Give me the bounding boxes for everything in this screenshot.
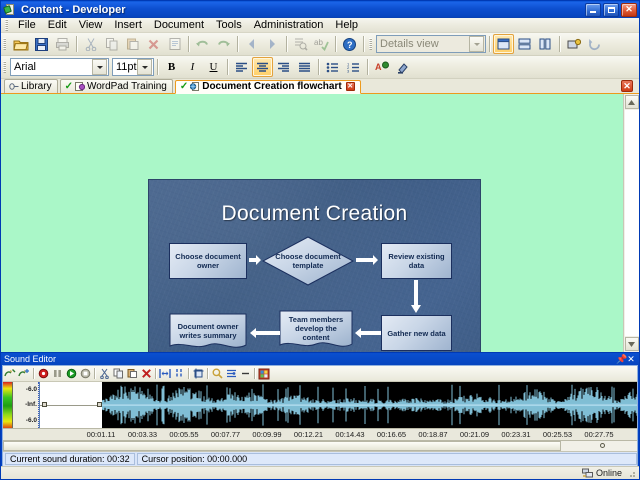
stop-icon xyxy=(78,367,92,381)
close-icon[interactable]: ✕ xyxy=(626,354,636,364)
sound-editor-title: Sound Editor xyxy=(4,354,616,364)
pause-icon xyxy=(50,367,64,381)
spellcheck-icon: ab xyxy=(311,34,332,54)
time-ruler[interactable]: 00:01.1100:03.3300:05.5500:07.7700:09.99… xyxy=(3,428,637,441)
resize-grip-icon[interactable] xyxy=(626,468,636,478)
slide-title: Document Creation xyxy=(149,202,480,226)
insert-marker-icon[interactable] xyxy=(158,367,172,381)
underline-button[interactable]: U xyxy=(203,57,224,77)
connector-n2-n3 xyxy=(356,254,379,266)
save-icon[interactable] xyxy=(31,34,52,54)
flow-node-label: Choose document template xyxy=(262,236,354,286)
scrollbar-thumb[interactable] xyxy=(3,441,561,451)
scroll-up-button[interactable] xyxy=(625,95,639,109)
italic-label: I xyxy=(191,61,195,73)
toolbar-separator xyxy=(227,59,228,75)
play-icon[interactable] xyxy=(64,367,78,381)
ruler-tick: 00:03.33 xyxy=(128,430,157,440)
document-area: Document Creation Choose document owner xyxy=(1,94,639,352)
waveform-display[interactable] xyxy=(39,382,637,428)
toolbar-separator xyxy=(367,59,368,75)
font-family-value: Arial xyxy=(14,61,36,73)
tab-close-icon[interactable]: ✕ xyxy=(346,82,355,91)
toolbar-separator xyxy=(94,368,95,379)
flow-node-label: Gather new data xyxy=(387,329,445,338)
library-icon xyxy=(9,82,19,91)
flow-node-gather-new-data[interactable]: Gather new data xyxy=(381,315,452,351)
chevron-down-icon[interactable] xyxy=(469,36,484,52)
menu-item-view[interactable]: View xyxy=(73,18,109,33)
toolbar-separator xyxy=(254,368,255,379)
toolbar-separator xyxy=(318,59,319,75)
online-label: Online xyxy=(596,468,622,478)
toolbar-grip-view[interactable] xyxy=(369,38,374,50)
menu-item-administration[interactable]: Administration xyxy=(248,18,330,33)
online-status: Online xyxy=(582,468,622,478)
minimize-button[interactable] xyxy=(585,3,601,17)
flow-node-choose-document-template[interactable]: Choose document template xyxy=(262,236,354,286)
tab-library-label: Library xyxy=(21,81,52,93)
close-document-button[interactable]: ✕ xyxy=(621,80,633,92)
flow-node-label: Review existing data xyxy=(385,252,448,270)
paste-icon xyxy=(125,367,139,381)
bullet-list-icon[interactable] xyxy=(322,57,343,77)
copy-icon xyxy=(111,367,125,381)
level-icon[interactable] xyxy=(224,367,238,381)
vertical-split-icon[interactable] xyxy=(535,34,556,54)
view-select-value: Details view xyxy=(380,38,439,50)
forward-icon xyxy=(262,34,283,54)
sound-editor-panel: Sound Editor 📌 ✕ xyxy=(1,352,639,466)
window-controls: ✕ xyxy=(585,3,637,17)
ruler-tick: 00:18.87 xyxy=(418,430,447,440)
selection-handle-left[interactable] xyxy=(42,402,47,407)
tab-document-creation-flowchart[interactable]: ✓ Document Creation flowchart ✕ xyxy=(175,80,361,94)
flow-node-choose-document-owner[interactable]: Choose document owner xyxy=(169,243,247,279)
font-size-select[interactable]: 11pt xyxy=(112,58,154,76)
sound-duration-label: Current sound duration: 00:32 xyxy=(5,453,135,465)
menu-bar: File Edit View Insert Document Tools Adm… xyxy=(1,18,639,33)
underline-label: U xyxy=(210,61,218,73)
ruler-tick: 00:01.11 xyxy=(87,430,116,440)
toolbar-separator xyxy=(157,59,158,75)
minus-icon[interactable] xyxy=(238,367,252,381)
globe-doc-icon xyxy=(190,82,200,91)
zoom-icon[interactable] xyxy=(210,367,224,381)
cursor-position-label: Cursor position: 00:00.000 xyxy=(137,453,637,465)
crop-icon[interactable] xyxy=(191,367,205,381)
align-right-icon[interactable] xyxy=(273,57,294,77)
redo-icon xyxy=(213,34,234,54)
numbered-list-icon[interactable]: 1 2 3 xyxy=(343,57,364,77)
format-toolbar: Arial 11pt B I U xyxy=(1,56,639,79)
toolbar-separator xyxy=(76,36,77,52)
chevron-down-icon[interactable] xyxy=(137,59,152,75)
check-icon: ✓ xyxy=(65,82,73,92)
slide-flowchart[interactable]: Document Creation Choose document owner xyxy=(148,179,481,352)
tab-wordpad-training[interactable]: ✓ WordPad Training xyxy=(60,79,173,93)
tab-wordpad-training-label: WordPad Training xyxy=(87,81,167,93)
print-icon xyxy=(52,34,73,54)
horizontal-split-icon[interactable] xyxy=(514,34,535,54)
properties-icon[interactable] xyxy=(257,367,271,381)
menu-item-insert[interactable]: Insert xyxy=(108,18,148,33)
connector-n5-n6 xyxy=(249,327,280,339)
ruler-tick: 00:16.65 xyxy=(377,430,406,440)
ruler-tick: 00:07.77 xyxy=(211,430,240,440)
ruler-tick: 00:12.21 xyxy=(294,430,323,440)
ruler-tick: 00:21.09 xyxy=(460,430,489,440)
sound-editor-statusbar: Current sound duration: 00:32 Cursor pos… xyxy=(3,452,637,466)
help-icon[interactable]: ? xyxy=(339,34,360,54)
ruler-tick: 00:14.43 xyxy=(335,430,364,440)
flow-node-review-existing-data[interactable]: Review existing data xyxy=(381,243,452,279)
menu-item-tools[interactable]: Tools xyxy=(210,18,248,33)
flow-node-document-owner-writes-summary[interactable]: Document owner writes summary xyxy=(169,313,247,352)
toolbar-separator xyxy=(188,36,189,52)
flow-node-label: Document owner writes summary xyxy=(169,313,247,352)
chevron-down-icon[interactable] xyxy=(92,59,107,75)
pin-icon[interactable]: 📌 xyxy=(616,354,626,364)
tab-library[interactable]: Library xyxy=(4,79,58,93)
open-folder-icon[interactable] xyxy=(10,34,31,54)
sound-editor-toolbar xyxy=(3,366,637,382)
close-button[interactable]: ✕ xyxy=(621,3,637,17)
toolbar-separator xyxy=(335,36,336,52)
menu-item-file[interactable]: File xyxy=(12,18,42,33)
markers-icon[interactable] xyxy=(172,367,186,381)
connector-n3-n4 xyxy=(410,280,422,314)
insert-sound-icon[interactable] xyxy=(3,367,17,381)
publish-icon[interactable] xyxy=(563,34,584,54)
vertical-scrollbar[interactable] xyxy=(623,94,639,352)
canvas[interactable]: Document Creation Choose document owner xyxy=(1,94,623,352)
cut-icon xyxy=(97,367,111,381)
svg-text:?: ? xyxy=(347,40,353,50)
meter-label-top: -6.0 xyxy=(26,386,37,393)
copy-icon xyxy=(101,34,122,54)
ruler-tick: 00:27.75 xyxy=(584,430,613,440)
scrollbar-track[interactable] xyxy=(625,110,639,336)
refresh-icon xyxy=(584,34,605,54)
maximize-button[interactable] xyxy=(603,3,619,17)
main-toolbar: ab ? Details view xyxy=(1,33,639,56)
record-icon[interactable] xyxy=(36,367,50,381)
ruler-tick: 00:25.53 xyxy=(543,430,572,440)
font-size-value: 11pt xyxy=(116,61,137,73)
wordpad-icon xyxy=(75,82,85,91)
svg-text:A: A xyxy=(375,62,382,72)
ruler-tick: 00:05.55 xyxy=(169,430,198,440)
bold-button[interactable]: B xyxy=(161,57,182,77)
delete-icon[interactable] xyxy=(139,367,153,381)
check-icon: ✓ xyxy=(180,82,188,92)
bold-label: B xyxy=(168,61,175,73)
toolbar-separator xyxy=(559,36,560,52)
document-globe-icon xyxy=(4,3,17,16)
find-icon xyxy=(290,34,311,54)
waveform-graph xyxy=(102,382,637,428)
toolbar-separator xyxy=(237,36,238,52)
connector-n4-n5 xyxy=(354,327,381,339)
menu-item-edit[interactable]: Edit xyxy=(42,18,73,33)
toolbar-separator xyxy=(155,368,156,379)
back-icon xyxy=(241,34,262,54)
scroll-down-button[interactable] xyxy=(625,337,639,351)
sound-editor-body: -6.0 -Inf. -6.0 00:01.1100:03.3300:05.55… xyxy=(2,365,638,468)
level-meter-labels: -6.0 -Inf. -6.0 xyxy=(13,382,39,428)
title-bar: Content - Developer ✕ xyxy=(1,1,639,18)
toolbar-separator xyxy=(33,368,34,379)
toolbar-separator xyxy=(207,368,208,379)
flow-node-label: Choose document owner xyxy=(173,252,243,270)
toolbar-separator xyxy=(188,368,189,379)
view-select[interactable]: Details view xyxy=(376,35,486,53)
ruler-tick: 00:23.31 xyxy=(501,430,530,440)
network-icon xyxy=(582,468,593,478)
align-left-icon[interactable] xyxy=(231,57,252,77)
menu-item-help[interactable]: Help xyxy=(329,18,364,33)
level-meter xyxy=(3,382,13,428)
window-title: Content - Developer xyxy=(21,4,585,16)
menu-grip[interactable] xyxy=(5,19,10,31)
delete-icon xyxy=(143,34,164,54)
status-bar: Online xyxy=(1,466,639,479)
ruler-tick: 00:09.99 xyxy=(252,430,281,440)
toolbar-separator xyxy=(286,36,287,52)
undo-icon xyxy=(192,34,213,54)
meter-label-middle: -Inf. xyxy=(25,401,37,408)
menu-item-document[interactable]: Document xyxy=(148,18,210,33)
meter-label-bottom: -6.0 xyxy=(26,417,37,424)
flow-node-label: Team members develop the content xyxy=(279,310,353,352)
single-pane-icon[interactable] xyxy=(493,34,514,54)
align-center-icon[interactable] xyxy=(252,57,273,77)
font-family-select[interactable]: Arial xyxy=(10,58,109,76)
italic-button[interactable]: I xyxy=(182,57,203,77)
toolbar-grip-main[interactable] xyxy=(3,38,8,50)
waveform-row: -6.0 -Inf. -6.0 xyxy=(3,382,637,428)
flow-node-team-members-develop-the-content[interactable]: Team members develop the content xyxy=(279,310,353,352)
toolbar-separator xyxy=(363,36,364,52)
connector-n1-n2 xyxy=(249,254,262,266)
properties-icon xyxy=(164,34,185,54)
waveform-horizontal-scrollbar[interactable] xyxy=(3,441,637,452)
zoom-knob[interactable] xyxy=(600,443,605,448)
paste-icon xyxy=(122,34,143,54)
toolbar-separator xyxy=(489,36,490,52)
toolbar-grip-format[interactable] xyxy=(3,61,8,73)
sound-editor-titlebar: Sound Editor 📌 ✕ xyxy=(1,353,639,365)
svg-text:3: 3 xyxy=(347,68,350,72)
append-sound-icon[interactable] xyxy=(17,367,31,381)
tab-document-creation-flowchart-label: Document Creation flowchart xyxy=(202,81,341,93)
highlight-color-icon[interactable] xyxy=(392,57,413,77)
application-window: Content - Developer ✕ File Edit View Ins… xyxy=(0,0,640,480)
align-justify-icon[interactable] xyxy=(294,57,315,77)
svg-text:ab: ab xyxy=(314,38,323,47)
cut-icon xyxy=(80,34,101,54)
font-color-icon[interactable]: A xyxy=(371,57,392,77)
document-tab-strip: Library ✓ WordPad Training ✓ Document Cr… xyxy=(1,79,639,94)
